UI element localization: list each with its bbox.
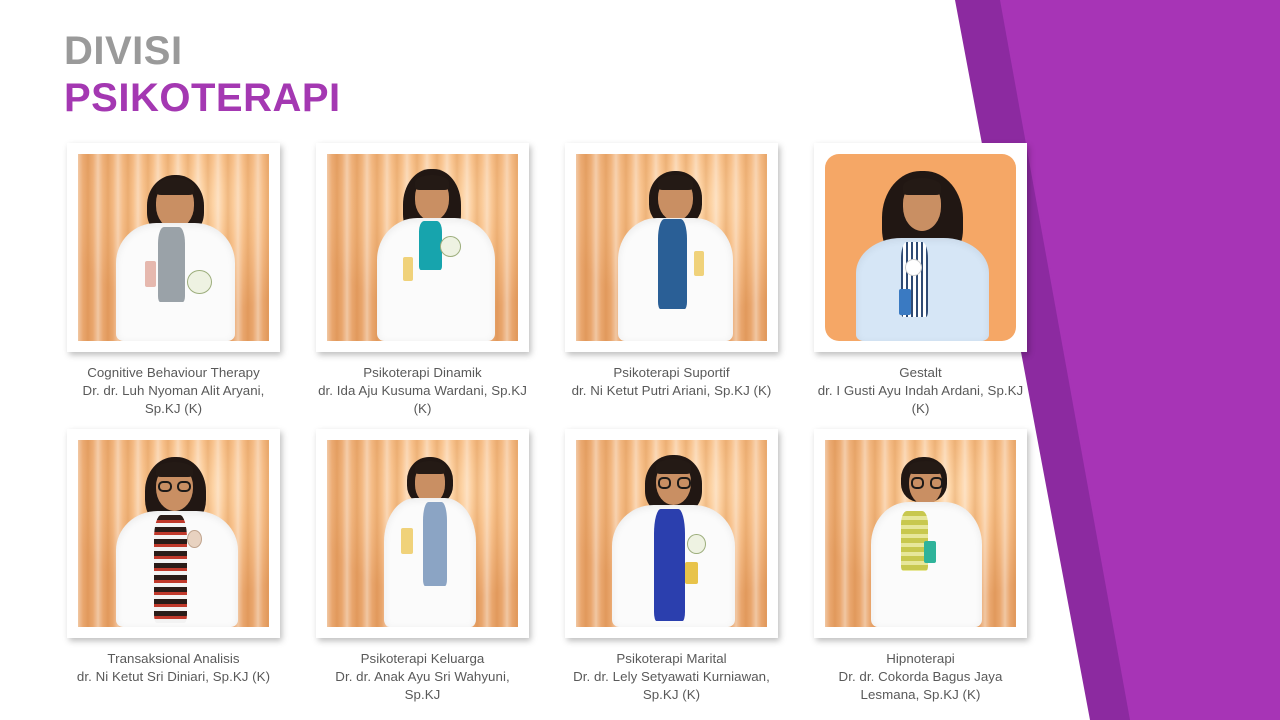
- photo-frame: [67, 143, 280, 352]
- slide-root: DIVISI PSIKOTERAPI: [0, 0, 1280, 720]
- member-card-7[interactable]: Psikoterapi Marital Dr. dr. Lely Setyawa…: [565, 429, 778, 703]
- person-illustration: [327, 154, 518, 341]
- title-line-divisi: DIVISI: [64, 30, 341, 73]
- member-caption: Cognitive Behaviour Therapy Dr. dr. Luh …: [67, 364, 280, 417]
- photo-frame: [67, 429, 280, 638]
- member-role: Psikoterapi Marital: [565, 650, 778, 668]
- member-photo: [78, 154, 269, 341]
- member-photo: [825, 154, 1016, 341]
- member-name: Dr. dr. Luh Nyoman Alit Aryani, Sp.KJ (K…: [67, 382, 280, 418]
- photo-frame: [316, 143, 529, 352]
- member-photo: [327, 440, 518, 627]
- slide-title: DIVISI PSIKOTERAPI: [64, 30, 341, 120]
- member-photo: [576, 440, 767, 627]
- member-name: Dr. dr. Anak Ayu Sri Wahyuni, Sp.KJ: [316, 668, 529, 704]
- photo-frame: [814, 429, 1027, 638]
- member-caption: Psikoterapi Suportif dr. Ni Ketut Putri …: [565, 364, 778, 400]
- member-caption: Psikoterapi Keluarga Dr. dr. Anak Ayu Sr…: [316, 650, 529, 703]
- member-role: Psikoterapi Dinamik: [316, 364, 529, 382]
- member-caption: Gestalt dr. I Gusti Ayu Indah Ardani, Sp…: [814, 364, 1027, 417]
- member-role: Gestalt: [814, 364, 1027, 382]
- member-role: Hipnoterapi: [814, 650, 1027, 668]
- person-illustration: [576, 154, 767, 341]
- member-role: Cognitive Behaviour Therapy: [67, 364, 280, 382]
- member-name: dr. I Gusti Ayu Indah Ardani, Sp.KJ (K): [814, 382, 1027, 418]
- member-name: Dr. dr. Lely Setyawati Kurniawan, Sp.KJ …: [565, 668, 778, 704]
- member-name: Dr. dr. Cokorda Bagus Jaya Lesmana, Sp.K…: [814, 668, 1027, 704]
- title-line-psikoterapi: PSIKOTERAPI: [64, 77, 341, 120]
- member-card-1[interactable]: Cognitive Behaviour Therapy Dr. dr. Luh …: [67, 143, 280, 417]
- member-card-5[interactable]: Transaksional Analisis dr. Ni Ketut Sri …: [67, 429, 280, 686]
- member-name: dr. Ida Aju Kusuma Wardani, Sp.KJ (K): [316, 382, 529, 418]
- member-name: dr. Ni Ketut Sri Diniari, Sp.KJ (K): [67, 668, 280, 686]
- member-role: Psikoterapi Keluarga: [316, 650, 529, 668]
- member-photo: [327, 154, 518, 341]
- member-name: dr. Ni Ketut Putri Ariani, Sp.KJ (K): [565, 382, 778, 400]
- person-illustration: [78, 440, 269, 627]
- member-card-3[interactable]: Psikoterapi Suportif dr. Ni Ketut Putri …: [565, 143, 778, 400]
- member-caption: Transaksional Analisis dr. Ni Ketut Sri …: [67, 650, 280, 686]
- member-caption: Hipnoterapi Dr. dr. Cokorda Bagus Jaya L…: [814, 650, 1027, 703]
- photo-frame: [316, 429, 529, 638]
- member-photo: [576, 154, 767, 341]
- person-illustration: [825, 154, 1016, 341]
- member-photo: [825, 440, 1016, 627]
- member-card-2[interactable]: Psikoterapi Dinamik dr. Ida Aju Kusuma W…: [316, 143, 529, 417]
- person-illustration: [576, 440, 767, 627]
- member-role: Transaksional Analisis: [67, 650, 280, 668]
- photo-frame: [814, 143, 1027, 352]
- member-caption: Psikoterapi Marital Dr. dr. Lely Setyawa…: [565, 650, 778, 703]
- photo-frame: [565, 429, 778, 638]
- member-card-4[interactable]: Gestalt dr. I Gusti Ayu Indah Ardani, Sp…: [814, 143, 1027, 417]
- member-card-6[interactable]: Psikoterapi Keluarga Dr. dr. Anak Ayu Sr…: [316, 429, 529, 703]
- photo-frame: [565, 143, 778, 352]
- member-photo: [78, 440, 269, 627]
- member-card-8[interactable]: Hipnoterapi Dr. dr. Cokorda Bagus Jaya L…: [814, 429, 1027, 703]
- person-illustration: [327, 440, 518, 627]
- member-caption: Psikoterapi Dinamik dr. Ida Aju Kusuma W…: [316, 364, 529, 417]
- person-illustration: [825, 440, 1016, 627]
- person-illustration: [78, 154, 269, 341]
- member-role: Psikoterapi Suportif: [565, 364, 778, 382]
